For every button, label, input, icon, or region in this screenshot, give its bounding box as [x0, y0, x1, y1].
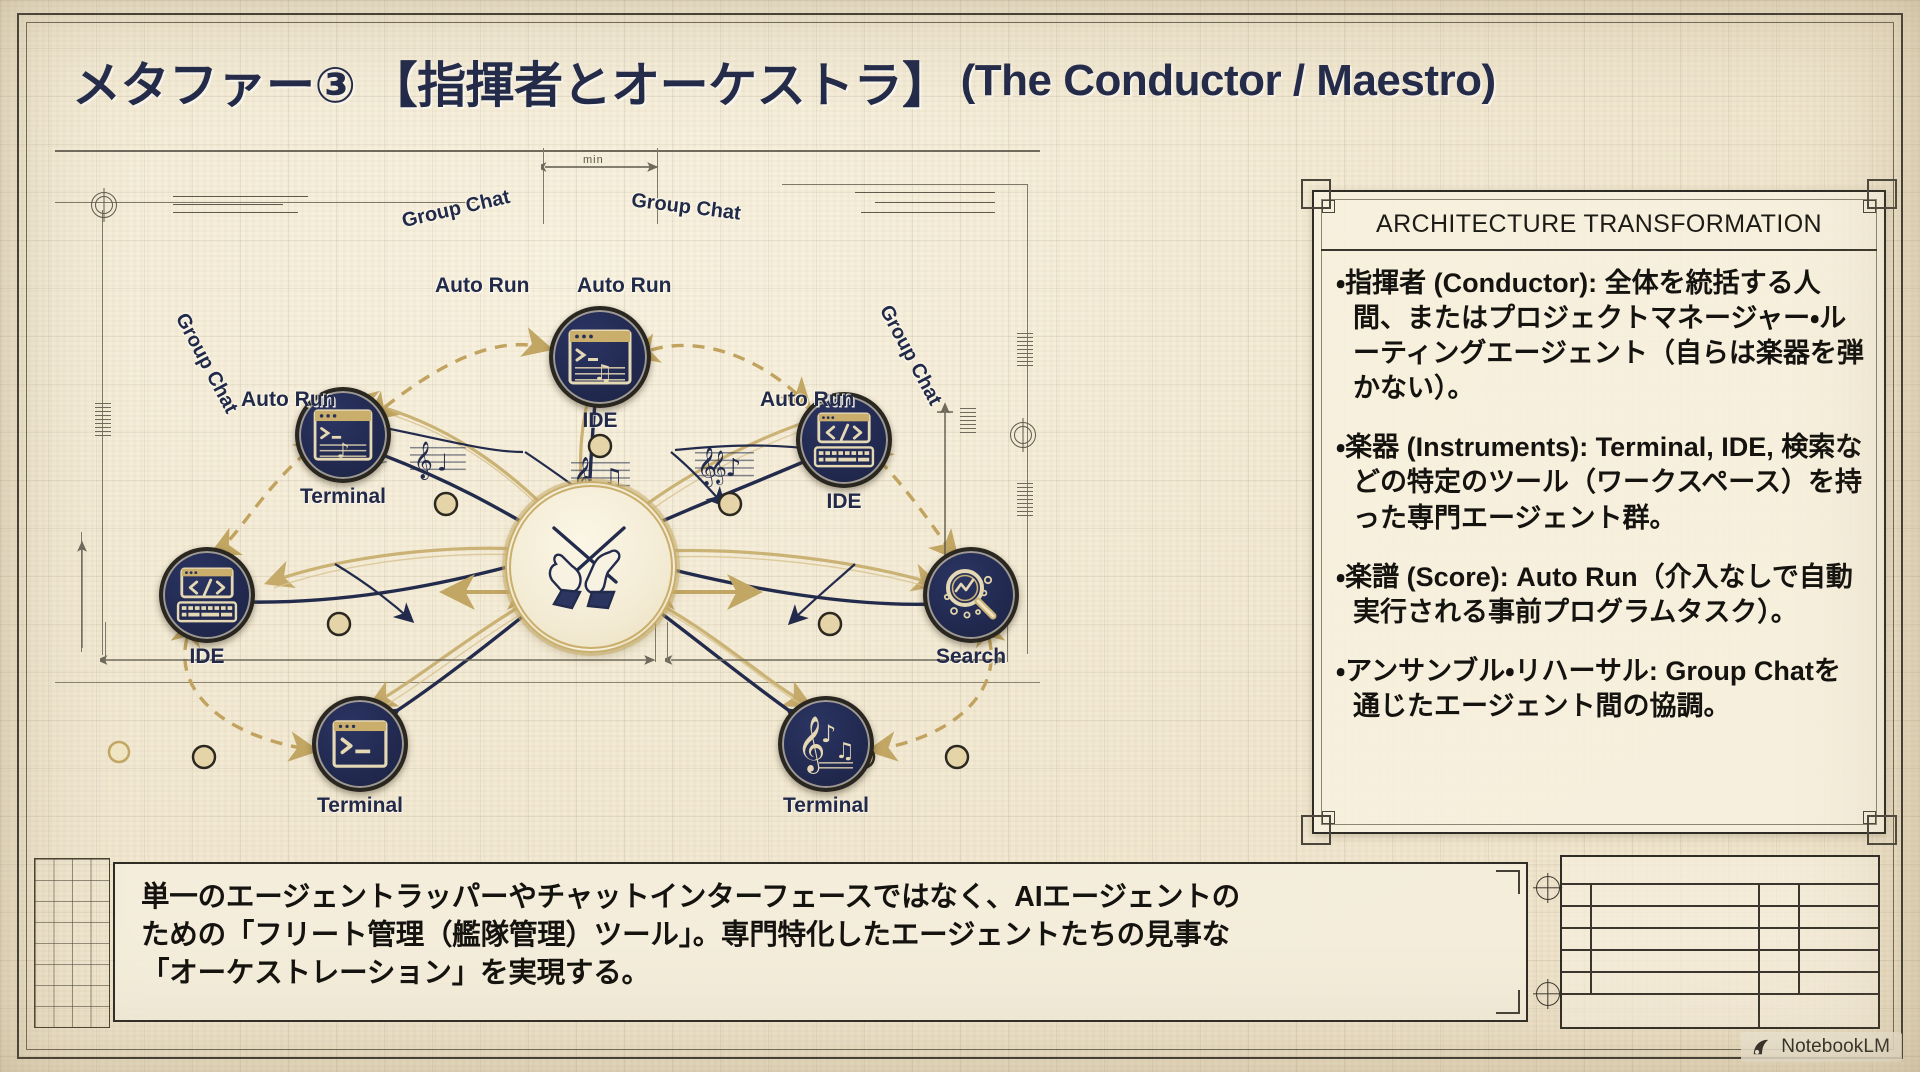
conductor-baton-hands-icon [532, 508, 650, 626]
svg-text:♫: ♫ [835, 739, 855, 764]
node-terminal-br-label: Terminal [783, 794, 869, 818]
globe-mark-top-icon [1536, 876, 1560, 900]
panel-bullet-score: ・楽譜 (Score): Auto Run（介入なしで自動実行される事前プログラ… [1336, 560, 1864, 630]
node-ide-top-bubble: ♫ [549, 306, 651, 408]
gear-target-icon [91, 192, 117, 218]
globe-mark-bottom-icon [1536, 982, 1560, 1006]
panel-bullet-conductor: ・指揮者 (Conductor): 全体を統括する人間、またはプロジェクトマネー… [1336, 266, 1864, 406]
diagram-sheet: 𝄞 ♩ 𝄞 ♫ 𝄞 ♪ ♬ [55, 150, 1040, 683]
rule-stack-2 [173, 204, 283, 205]
svg-text:♪: ♪ [336, 438, 349, 462]
node-search-label: Search [936, 645, 1006, 669]
panel-bullet-instruments: ・楽器 (Instruments): Terminal, IDE, 検索などの特… [1336, 430, 1864, 535]
svg-text:♪: ♪ [725, 453, 741, 482]
panel-bullet-ensemble: ・アンサンブル・リハーサル: Group Chatを通じたエージェント間の協調。 [1336, 654, 1864, 724]
rule-stack-r1 [855, 192, 995, 193]
architecture-panel: ARCHITECTURE TRANSFORMATION ・指揮者 (Conduc… [1312, 190, 1886, 834]
node-ide-top-label: IDE [582, 409, 617, 433]
dim-ext-bm [655, 622, 656, 662]
caption-corner-tr-icon [1496, 870, 1520, 894]
spring-symbol-right-top [1017, 332, 1033, 366]
svg-text:♫: ♫ [593, 361, 613, 386]
panel-bullet-list: ・指揮者 (Conductor): 全体を統括する人間、またはプロジェクトマネー… [1336, 266, 1864, 818]
node-terminal-left-label: Terminal [300, 485, 386, 509]
dim-ext-bl [105, 622, 106, 662]
svg-text:𝄞: 𝄞 [710, 451, 727, 485]
code-keyboard-icon [813, 412, 875, 468]
spring-symbol-left [95, 402, 111, 436]
construction-rule-left [55, 202, 475, 203]
page-title-en: (The Conductor / Maestro) [961, 56, 1496, 106]
gear-target-icon-right [1010, 422, 1036, 448]
blueprint-page: メタファー③ 【指揮者とオーケストラ】 (The Conductor / Mae… [0, 0, 1920, 1072]
dim-bottom-left [100, 652, 660, 668]
page-title-jp: メタファー③ 【指揮者とオーケストラ】 [72, 46, 951, 117]
conductor-ring [505, 481, 677, 653]
dim-arrow-far-left [73, 536, 91, 656]
terminal-prompt-icon [331, 719, 389, 769]
rule-stack-1 [173, 196, 308, 197]
node-ide-far-left-label: IDE [189, 645, 224, 669]
panel-heading: ARCHITECTURE TRANSFORMATION [1321, 199, 1877, 251]
bottom-left-hatch-grid [34, 858, 110, 1028]
code-keyboard-icon [176, 567, 238, 623]
watermark-label: NotebookLM [1781, 1036, 1890, 1058]
svg-text:𝄞: 𝄞 [414, 440, 433, 479]
dim-ext-bm2 [667, 622, 668, 662]
treble-notes-icon: 𝄞 ♪ ♫ [795, 714, 857, 774]
notebooklm-watermark: NotebookLM [1741, 1032, 1902, 1062]
terminal-music-icon: ♫ [567, 328, 633, 386]
edge-label-auto-run-right: Auto Run [760, 388, 854, 412]
edge-label-auto-run-left: Auto Run [241, 388, 335, 412]
magnifier-chart-icon [939, 563, 1003, 627]
caption-line-1: 単一のエージェントラッパーやチャットインターフェースではなく、AIエージェントの [141, 878, 1500, 916]
spring-symbol-mid [960, 407, 976, 433]
panel-corner-br-icon [1867, 815, 1897, 845]
edge-label-auto-run-top-left: Auto Run [435, 274, 529, 298]
page-title: メタファー③ 【指揮者とオーケストラ】 (The Conductor / Mae… [72, 40, 1862, 122]
node-terminal-bl-bubble [312, 696, 408, 792]
rule-stack-r2 [875, 202, 995, 203]
dim-label-min: min [579, 154, 608, 166]
dim-ext-br [1007, 622, 1008, 662]
node-terminal-br-bubble: 𝄞 ♪ ♫ [778, 696, 874, 792]
caption-line-3: 「オーケストレーション」を実現する。 [141, 954, 1500, 992]
construction-rule-right-vert [1027, 184, 1028, 654]
edge-label-auto-run-top-right: Auto Run [577, 274, 671, 298]
notebooklm-logo-icon [1751, 1037, 1773, 1057]
node-search-bubble [923, 547, 1019, 643]
rule-stack-3 [173, 212, 298, 213]
caption-line-2: ための「フリート管理（艦隊管理）ツール」。専門特化したエージェントたちの見事な [141, 916, 1500, 954]
terminal-music-icon: ♪ [312, 408, 374, 462]
summary-caption-box: 単一のエージェントラッパーやチャットインターフェースではなく、AIエージェントの… [113, 862, 1528, 1022]
spring-symbol-right-bottom [1017, 482, 1033, 516]
node-ide-far-left-bubble [159, 547, 255, 643]
rule-stack-r3 [861, 212, 995, 213]
svg-text:♩: ♩ [437, 448, 448, 476]
node-ide-right-label: IDE [826, 490, 861, 514]
node-terminal-bl-label: Terminal [317, 794, 403, 818]
panel-corner-bl-icon [1301, 815, 1331, 845]
construction-rule-right [782, 184, 1027, 185]
caption-corner-br-icon [1496, 990, 1520, 1014]
title-block-table [1560, 855, 1880, 1029]
